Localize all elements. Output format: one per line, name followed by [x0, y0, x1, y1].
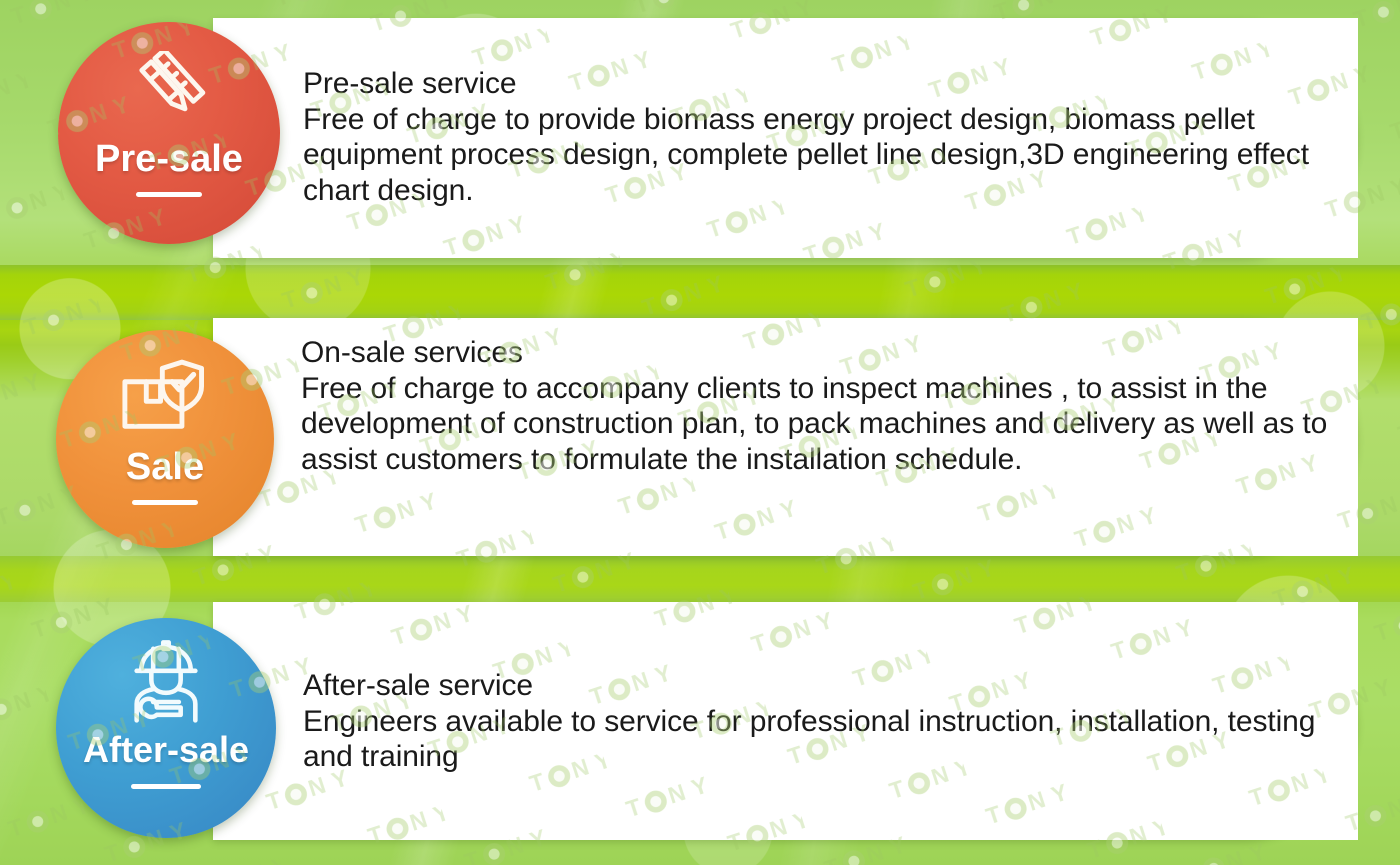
- badge-underline: [136, 192, 202, 197]
- service-text-pre-sale: Pre-sale service Free of charge to provi…: [303, 66, 1343, 208]
- service-badge-after-sale[interactable]: After-sale: [56, 618, 276, 838]
- service-title: On-sale services: [301, 335, 1361, 371]
- service-badge-on-sale[interactable]: Sale: [56, 330, 274, 548]
- service-title: Pre-sale service: [303, 66, 1343, 102]
- badge-label: After-sale: [83, 732, 249, 768]
- service-badge-pre-sale[interactable]: Pre-sale: [58, 22, 280, 244]
- badge-label: Pre-sale: [95, 140, 243, 178]
- badge-underline: [131, 784, 201, 789]
- service-body: Engineers available to service for profe…: [303, 704, 1343, 775]
- service-text-on-sale: On-sale services Free of charge to accom…: [301, 335, 1361, 477]
- service-title: After-sale service: [303, 668, 1343, 704]
- service-body: Free of charge to provide biomass energy…: [303, 102, 1343, 209]
- service-banner: Pre-sale service Free of charge to provi…: [0, 0, 1400, 865]
- service-text-after-sale: After-sale service Engineers available t…: [303, 668, 1343, 775]
- box-shield-check-icon: [111, 354, 219, 438]
- worker-wrench-icon: [112, 634, 220, 726]
- pencil-ruler-icon: [115, 48, 223, 134]
- service-body: Free of charge to accompany clients to i…: [301, 371, 1361, 478]
- badge-underline: [132, 500, 198, 505]
- badge-label: Sale: [126, 448, 204, 486]
